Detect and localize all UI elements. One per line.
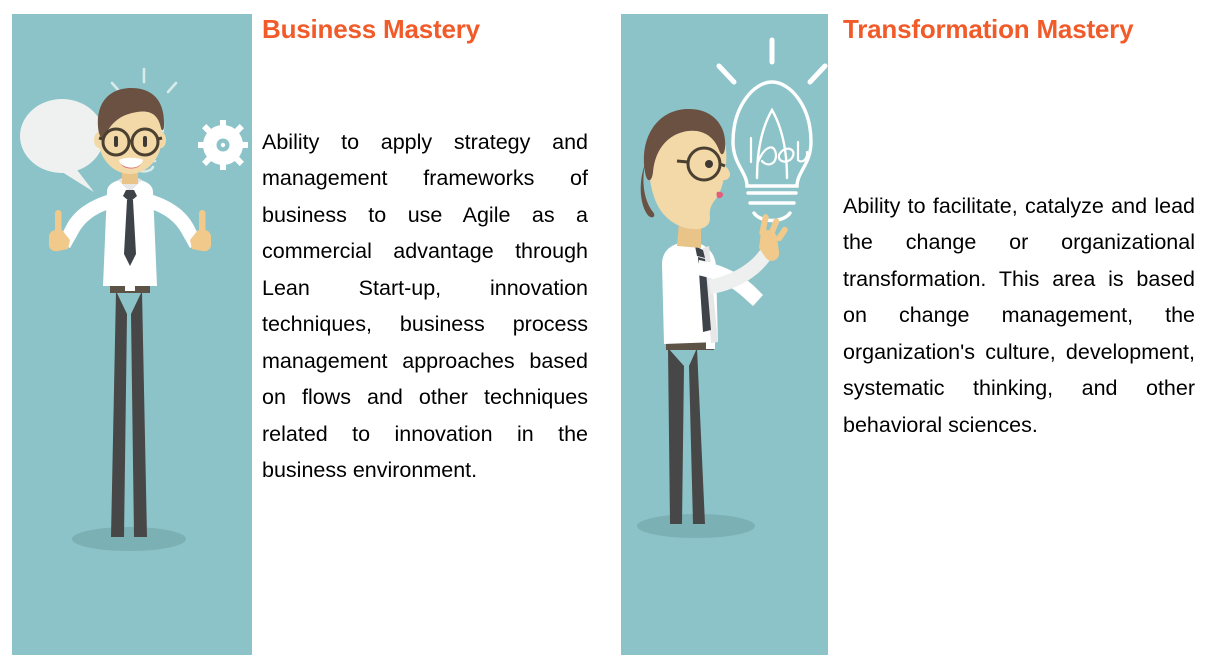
lightbulb-icon	[719, 40, 825, 221]
character-side-profile	[641, 109, 789, 524]
card-title-business-mastery: Business Mastery	[262, 14, 588, 46]
floor-shadow	[72, 527, 186, 551]
illustration-panel-transformation-mastery	[621, 14, 828, 655]
card-title-transformation-mastery: Transformation Mastery	[843, 14, 1195, 46]
businessman-pointing-up-illustration	[12, 14, 252, 655]
businessman-reaching-for-idea-illustration	[621, 14, 828, 655]
slide-canvas: Business Mastery Ability to apply strate…	[0, 0, 1210, 670]
card-text-business-mastery: Business Mastery Ability to apply strate…	[262, 14, 588, 489]
card-body-business-mastery: Ability to apply strategy and management…	[262, 124, 588, 489]
card-body-transformation-mastery: Ability to facilitate, catalyze and lead…	[843, 188, 1195, 444]
gear-icon	[198, 120, 248, 170]
card-text-transformation-mastery: Transformation Mastery Ability to facili…	[843, 14, 1195, 443]
speech-bubble-icon	[20, 99, 104, 192]
illustration-panel-business-mastery	[12, 14, 252, 655]
